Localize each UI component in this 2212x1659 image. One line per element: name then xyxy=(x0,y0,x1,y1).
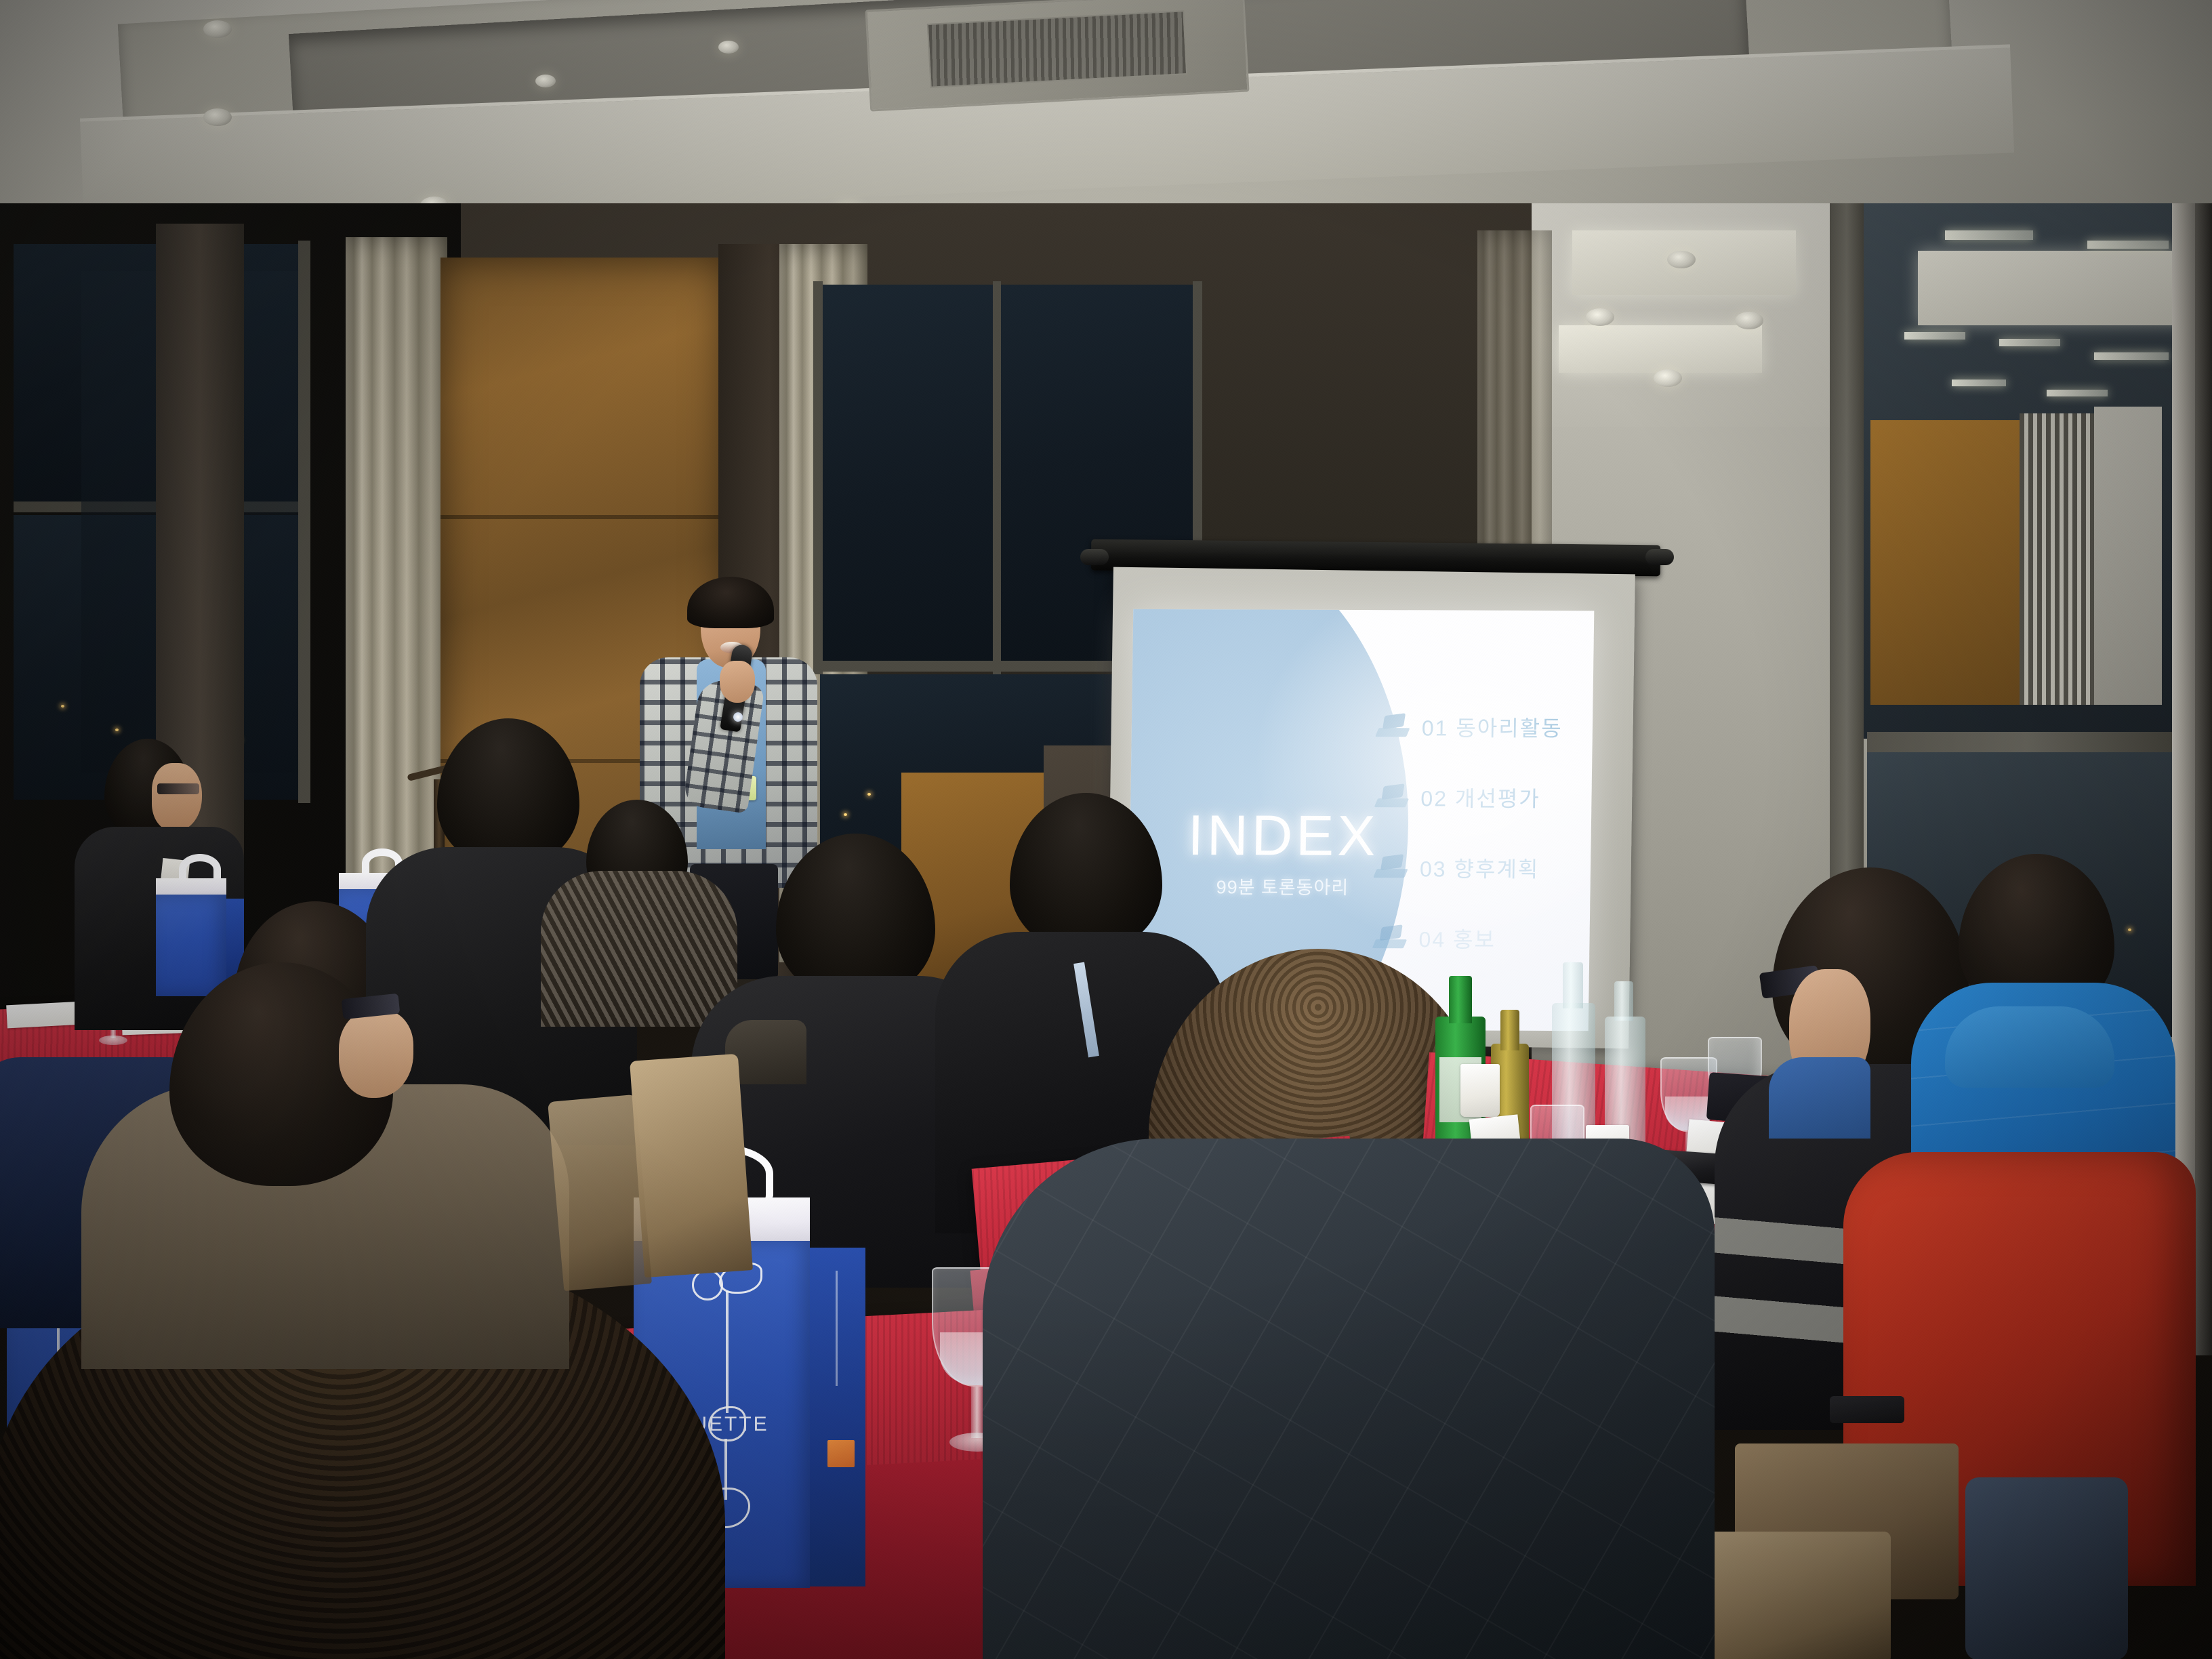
chair-back xyxy=(548,1094,652,1291)
slide-title: INDEX xyxy=(1187,802,1379,869)
glass-stem xyxy=(971,1387,983,1438)
downlight-icon xyxy=(203,108,232,126)
ceiling-strip-light-icon xyxy=(2047,390,2108,396)
downlight-icon xyxy=(1667,251,1696,268)
air-vent-grille-icon xyxy=(927,10,1187,88)
bag-side-line xyxy=(836,1271,838,1386)
face-profile xyxy=(339,1010,413,1098)
slide-index-list: 01 동아리활동 02 개선평가 03 향후계획 04 홍보 xyxy=(1371,691,1592,974)
paper-cup xyxy=(1460,1064,1500,1117)
presenter-hair xyxy=(687,577,774,628)
index-item-1: 01 동아리활동 xyxy=(1374,691,1591,762)
bullet-mark-icon xyxy=(1371,924,1410,951)
index-item-1-text: 01 동아리활동 xyxy=(1422,711,1563,743)
light-panel-icon xyxy=(1559,325,1762,373)
denim-leg xyxy=(1965,1477,2128,1659)
roller-end-cap xyxy=(1645,549,1674,565)
bottle-neck xyxy=(1563,962,1583,1008)
index-item-2: 02 개선평가 xyxy=(1373,762,1591,833)
bullet-mark-icon xyxy=(1374,713,1413,740)
panel-seam xyxy=(441,515,725,519)
far-room-wall xyxy=(2094,407,2162,705)
downlight-icon xyxy=(203,20,232,38)
bottle-neck xyxy=(1500,1010,1519,1050)
belt-buckle-icon xyxy=(1830,1396,1904,1423)
glass-foot xyxy=(99,1036,127,1045)
puffer-hood-collar xyxy=(1945,1006,2114,1088)
photo-scene: 01 동아리활동 02 개선평가 03 향후계획 04 홍보 INDEX 99분… xyxy=(0,0,2212,1659)
head xyxy=(1010,793,1162,952)
downlight-icon xyxy=(1654,369,1682,387)
ceiling-strip-light-icon xyxy=(2087,241,2169,249)
index-item-3-text: 03 향후계획 xyxy=(1420,852,1540,884)
light-panel-icon xyxy=(1918,251,2203,325)
downlight-icon xyxy=(1735,312,1763,329)
bag-side xyxy=(810,1248,865,1586)
window-mullion xyxy=(993,281,1001,674)
ceiling-strip-light-icon xyxy=(2094,352,2169,360)
window-mullion xyxy=(298,241,310,803)
eyeglasses-icon xyxy=(157,783,199,794)
bag-orange-accent xyxy=(827,1440,855,1467)
ceiling-strip-light-icon xyxy=(1999,339,2060,346)
head xyxy=(776,834,935,1000)
bag-swirl-line xyxy=(726,1291,729,1413)
far-room-striped-wall xyxy=(2020,413,2094,705)
downlight-icon xyxy=(535,75,556,87)
foreground-puffer-shoulder xyxy=(983,1139,1715,1659)
blue-collar xyxy=(1769,1057,1870,1139)
ceiling-strip-light-icon xyxy=(1952,380,2006,386)
bag-swirl-decoration xyxy=(692,1269,723,1300)
ceiling-strip-light-icon xyxy=(1945,230,2033,240)
downlight-icon xyxy=(718,41,739,54)
index-item-3: 03 향후계획 xyxy=(1372,832,1589,903)
chair-back xyxy=(1701,1532,1891,1659)
far-room-wood-wall xyxy=(1870,420,2026,705)
presenter-hand xyxy=(720,661,755,703)
ceiling-strip-light-icon xyxy=(1904,332,1965,340)
index-item-2-text: 02 개선평가 xyxy=(1420,781,1540,813)
downlight-icon xyxy=(1586,308,1614,326)
bottle-neck xyxy=(1614,981,1633,1021)
bottle-neck xyxy=(1449,976,1472,1023)
slide-subtitle: 99분 토론동아리 xyxy=(1216,872,1349,899)
glass-transom xyxy=(1867,732,2186,752)
face-profile xyxy=(152,763,202,831)
right-edge-trim xyxy=(2195,203,2212,1355)
roller-end-cap xyxy=(1080,549,1109,565)
